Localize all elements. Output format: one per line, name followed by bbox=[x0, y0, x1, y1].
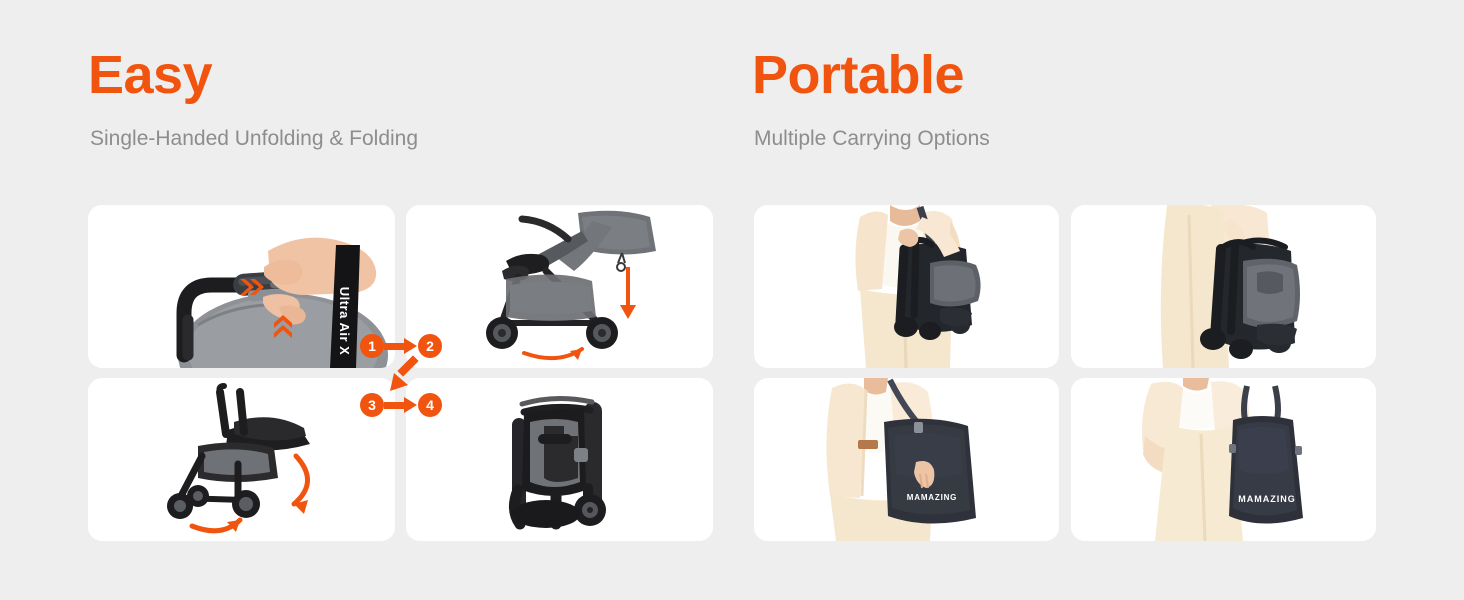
stroller-side-view-photo bbox=[406, 205, 713, 368]
shoulder-strap-carry-photo bbox=[754, 205, 1059, 368]
strap-brand-text: Ultra Air X bbox=[337, 287, 352, 356]
bag-brand-text-3: MAMAZING bbox=[907, 493, 957, 502]
travel-bag-shoulder-photo: MAMAZING bbox=[754, 378, 1059, 541]
travel-bag-handles-photo: MAMAZING bbox=[1071, 378, 1376, 541]
step-image-1: Ultra Air X bbox=[88, 205, 395, 368]
product-feature-banner: Easy Single-Handed Unfolding & Folding P… bbox=[0, 0, 1464, 600]
bag-brand-text-4: MAMAZING bbox=[1238, 494, 1296, 504]
carry-photo-4: MAMAZING bbox=[1071, 378, 1376, 541]
step-image-3 bbox=[88, 378, 395, 541]
arrow-step-3-to-4-icon bbox=[384, 395, 418, 415]
handle-carry-photo bbox=[1071, 205, 1376, 368]
stroller-folded-photo bbox=[406, 378, 713, 541]
easy-title: Easy bbox=[88, 48, 418, 102]
carry-photo-2 bbox=[1071, 205, 1376, 368]
portable-column-heading: Portable Multiple Carrying Options bbox=[752, 48, 990, 149]
portable-subtitle: Multiple Carrying Options bbox=[754, 128, 990, 149]
carry-photo-3: MAMAZING bbox=[754, 378, 1059, 541]
easy-subtitle: Single-Handed Unfolding & Folding bbox=[90, 128, 418, 149]
stroller-folding-photo bbox=[88, 378, 395, 541]
step-badge-3: 3 bbox=[360, 393, 384, 417]
step-badge-4: 4 bbox=[418, 393, 442, 417]
step-image-2 bbox=[406, 205, 713, 368]
step-image-4 bbox=[406, 378, 713, 541]
carry-photo-1 bbox=[754, 205, 1059, 368]
easy-column-heading: Easy Single-Handed Unfolding & Folding bbox=[88, 48, 418, 149]
step-badge-2: 2 bbox=[418, 334, 442, 358]
arrow-step-1-to-2-icon bbox=[384, 336, 418, 356]
step-badge-1: 1 bbox=[360, 334, 384, 358]
portable-title: Portable bbox=[752, 48, 990, 102]
arrow-step-2-to-3-icon bbox=[388, 355, 424, 393]
stroller-handlebar-grip-photo: Ultra Air X bbox=[88, 205, 395, 368]
